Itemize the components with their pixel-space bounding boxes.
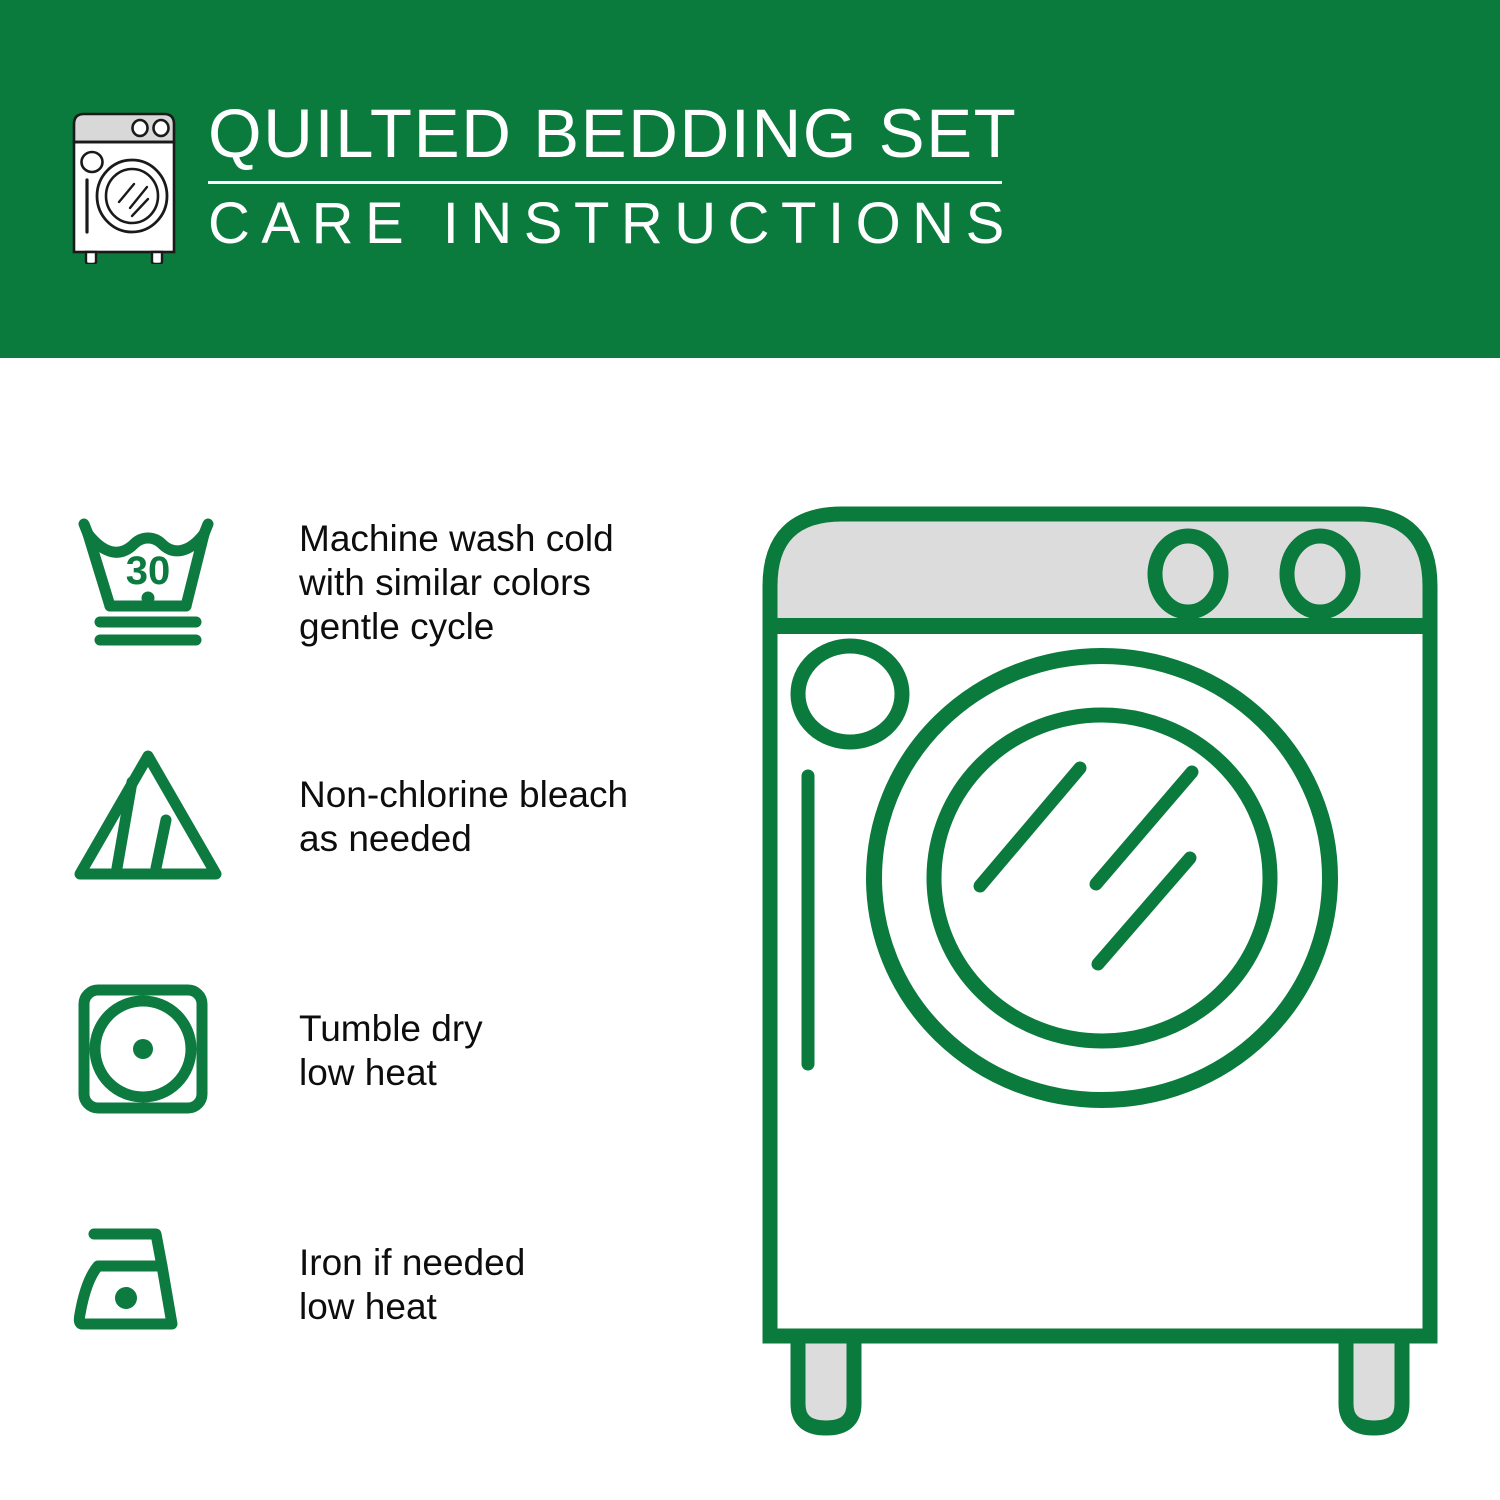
control-knob-right xyxy=(1287,536,1353,612)
care-label-iron: Iron if needed low heat xyxy=(299,1241,710,1329)
washing-machine-illustration xyxy=(740,486,1460,1446)
machine-leg-left xyxy=(798,1336,854,1428)
page-subtitle: CARE INSTRUCTIONS xyxy=(208,192,1062,256)
care-label-wash: Machine wash cold with similar colors ge… xyxy=(299,517,710,649)
care-label-tumble-dry: Tumble dry low heat xyxy=(299,1007,710,1095)
detergent-dispenser-icon xyxy=(798,646,902,742)
care-row-bleach: Non-chlorine bleach as needed xyxy=(70,734,710,899)
page-title: QUILTED BEDDING SET xyxy=(208,96,1062,172)
wash-tub-30-gentle-icon: 30 xyxy=(70,505,245,660)
care-instructions-infographic: QUILTED BEDDING SET CARE INSTRUCTIONS xyxy=(0,0,1500,1500)
iron-low-heat-icon xyxy=(70,1207,245,1362)
header-titles: QUILTED BEDDING SET CARE INSTRUCTIONS xyxy=(208,96,1062,256)
care-instruction-list: 30 Machine wash cold with similar colors… xyxy=(70,500,710,1367)
care-label-bleach: Non-chlorine bleach as needed xyxy=(299,773,710,861)
non-chlorine-bleach-triangle-icon xyxy=(70,739,245,894)
machine-leg-right xyxy=(1346,1336,1402,1428)
header-band: QUILTED BEDDING SET CARE INSTRUCTIONS xyxy=(0,0,1500,358)
care-row-wash: 30 Machine wash cold with similar colors… xyxy=(70,500,710,665)
control-knob-left xyxy=(1155,536,1221,612)
care-row-iron: Iron if needed low heat xyxy=(70,1202,710,1367)
washing-machine-icon xyxy=(62,104,190,264)
header-content: QUILTED BEDDING SET CARE INSTRUCTIONS xyxy=(62,96,1062,281)
tumble-dry-low-icon xyxy=(70,973,245,1128)
wash-temperature-label: 30 xyxy=(126,549,171,593)
title-divider xyxy=(208,181,1002,184)
content-area: 30 Machine wash cold with similar colors… xyxy=(0,358,1500,1500)
care-row-tumble-dry: Tumble dry low heat xyxy=(70,968,710,1133)
